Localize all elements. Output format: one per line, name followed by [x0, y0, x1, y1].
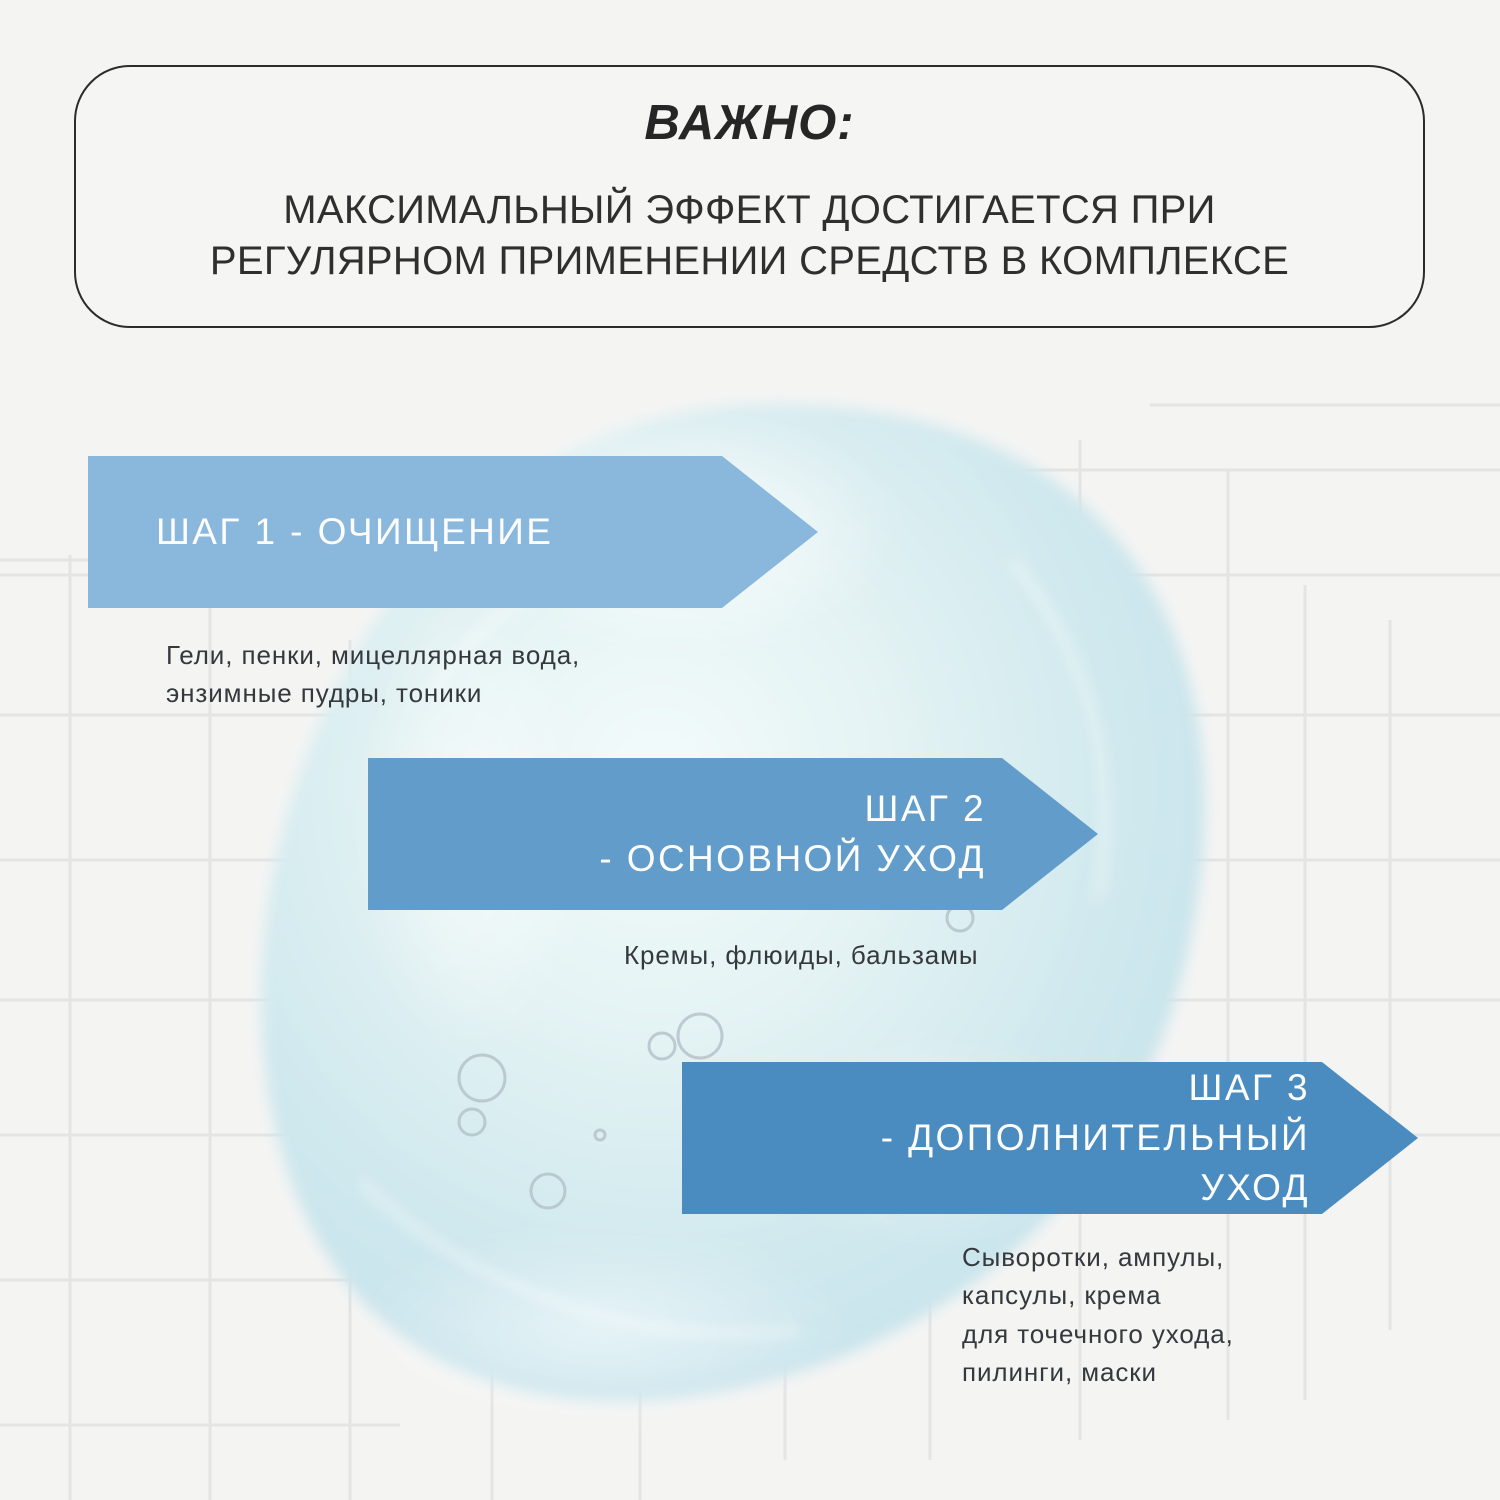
step-1-arrow: ШАГ 1 - ОЧИЩЕНИЕ — [88, 456, 818, 608]
step-1-label: ШАГ 1 - ОЧИЩЕНИЕ — [156, 507, 553, 557]
callout-subtitle: МАКСИМАЛЬНЫЙ ЭФФЕКТ ДОСТИГАЕТСЯ ПРИ РЕГУ… — [100, 185, 1400, 287]
callout-subtitle-line-2: РЕГУЛЯРНОМ ПРИМЕНЕНИИ СРЕДСТВ В КОМПЛЕКС… — [100, 236, 1400, 287]
step-3-caption: Сыворотки, ампулы, капсулы, крема для то… — [962, 1238, 1234, 1392]
step-3-label: ШАГ 3 - ДОПОЛНИТЕЛЬНЫЙ УХОД — [881, 1063, 1310, 1213]
step-2-arrow: ШАГ 2 - ОСНОВНОЙ УХОД — [368, 758, 1098, 910]
callout-title: ВАЖНО: — [644, 97, 854, 151]
step-3-arrow: ШАГ 3 - ДОПОЛНИТЕЛЬНЫЙ УХОД — [682, 1062, 1418, 1214]
step-2-caption: Кремы, флюиды, бальзамы — [624, 936, 979, 974]
infographic-canvas: ВАЖНО: МАКСИМАЛЬНЫЙ ЭФФЕКТ ДОСТИГАЕТСЯ П… — [0, 0, 1500, 1500]
important-callout-box: ВАЖНО: МАКСИМАЛЬНЫЙ ЭФФЕКТ ДОСТИГАЕТСЯ П… — [74, 65, 1425, 328]
step-2-label: ШАГ 2 - ОСНОВНОЙ УХОД — [599, 784, 986, 884]
callout-subtitle-line-1: МАКСИМАЛЬНЫЙ ЭФФЕКТ ДОСТИГАЕТСЯ ПРИ — [100, 185, 1400, 236]
step-1-caption: Гели, пенки, мицеллярная вода, энзимные … — [166, 636, 580, 713]
